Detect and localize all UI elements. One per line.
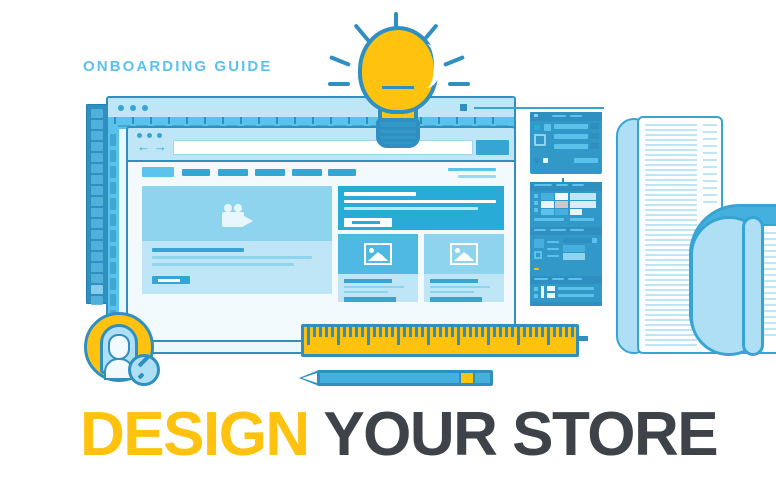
rail-tick-4 (110, 198, 116, 210)
ruler-tick-6 (222, 117, 224, 124)
properties-icon-b (534, 134, 546, 146)
kicker-label: ONBOARDING GUIDE (83, 58, 272, 75)
card-two-thumb (424, 234, 504, 274)
zoom-slider-knob[interactable] (460, 104, 467, 111)
window-dot-yellow (130, 105, 136, 111)
ruler-tick-1 (132, 117, 134, 124)
ruler-tick-11 (312, 117, 314, 124)
tool-2[interactable] (91, 131, 103, 140)
color-swatch-1[interactable] (541, 193, 554, 200)
ruler-tick-7 (240, 117, 242, 124)
color-swatch-7[interactable] (541, 209, 554, 215)
tool-7[interactable] (91, 186, 103, 195)
tool-3[interactable] (91, 142, 103, 151)
card-one-thumb (338, 234, 418, 274)
rail-tick-1 (110, 150, 116, 162)
tool-12[interactable] (91, 241, 103, 250)
browser-dot-red (137, 133, 142, 138)
nav-item-5[interactable] (328, 169, 356, 176)
video-thumbnail[interactable] (142, 186, 332, 241)
properties-icon-a (544, 124, 551, 131)
properties-button-1[interactable] (590, 123, 599, 129)
hero-line-2 (344, 200, 496, 203)
rail-tick-2 (110, 166, 116, 178)
nav-item-1[interactable] (182, 169, 210, 176)
address-go-button[interactable] (476, 140, 509, 155)
ruler-tick-21 (492, 117, 494, 124)
properties-button-2[interactable] (590, 133, 599, 139)
rail-tick-9 (110, 278, 116, 290)
website-preview-browser[interactable]: ← → (126, 126, 516, 342)
nav-right-line-1 (448, 168, 496, 171)
page-title: DESIGN YOUR STORE (80, 404, 717, 466)
hero-line-3 (344, 207, 478, 210)
tool-17[interactable] (91, 296, 103, 305)
properties-field-2[interactable] (554, 134, 588, 139)
ruler-tick-5 (204, 117, 206, 124)
color-swatch-3[interactable] (570, 193, 596, 200)
tool-9[interactable] (91, 208, 103, 217)
tool-14[interactable] (91, 263, 103, 272)
color-swatch-5[interactable] (555, 201, 568, 208)
forward-arrow-icon[interactable]: → (154, 142, 167, 152)
ruler-tick-20 (474, 117, 476, 124)
tool-1[interactable] (91, 120, 103, 129)
color-swatch-6[interactable] (570, 201, 596, 208)
ruler-end-nub (579, 336, 588, 341)
video-cta-button[interactable] (152, 276, 190, 284)
window-dot-red (118, 105, 124, 111)
ruler-tick-9 (276, 117, 278, 124)
styles-thumb[interactable] (534, 239, 544, 248)
pencil-edit-icon[interactable] (128, 354, 160, 386)
ruler-tick-19 (456, 117, 458, 124)
color-swatch-8[interactable] (555, 209, 568, 215)
hero-line-1 (344, 192, 416, 196)
hero-cta-button[interactable] (344, 218, 392, 227)
scroll-curl-right-roll (742, 216, 764, 356)
pencil-icon (299, 370, 493, 386)
ruler-tick-10 (294, 117, 296, 124)
video-caption-line-3 (152, 263, 294, 266)
nav-item-3[interactable] (255, 169, 285, 176)
properties-field-1[interactable] (554, 124, 588, 129)
illustration-stage: ONBOARDING GUIDE ← → (0, 0, 776, 484)
headline-rest: YOUR STORE (309, 400, 717, 469)
color-swatch-2[interactable] (555, 193, 568, 200)
hero-panel (338, 186, 504, 230)
card-two-caption (424, 274, 504, 302)
nav-item-2[interactable] (218, 169, 248, 176)
properties-field-3[interactable] (554, 144, 588, 149)
tool-10[interactable] (91, 219, 103, 228)
rail-tick-0 (110, 134, 116, 146)
tool-0[interactable] (91, 109, 103, 118)
nav-right-line-2 (458, 175, 496, 178)
rail-tick-10 (110, 294, 116, 306)
properties-panel-header (530, 112, 602, 121)
tool-6[interactable] (91, 175, 103, 184)
window-dot-green (142, 105, 148, 111)
site-nav-row[interactable] (128, 162, 514, 184)
color-swatch-4[interactable] (541, 201, 554, 208)
tool-15[interactable] (91, 274, 103, 283)
tool-palette[interactable] (86, 104, 108, 304)
rail-tick-6 (110, 230, 116, 242)
canvas-title-bar (108, 98, 514, 117)
color-swatch-9[interactable] (570, 209, 582, 215)
rail-tick-3 (110, 182, 116, 194)
styles-panel[interactable] (530, 182, 602, 306)
rail-tick-5 (110, 214, 116, 226)
properties-panel[interactable] (530, 112, 602, 174)
user-avatar[interactable] (84, 312, 154, 382)
properties-footer-field[interactable] (574, 158, 598, 163)
ruler-tick-2 (150, 117, 152, 124)
card-one-caption (338, 274, 418, 302)
nav-item-4[interactable] (292, 169, 322, 176)
avatar-face (108, 334, 130, 360)
tool-11[interactable] (91, 230, 103, 239)
image-placeholder-icon (364, 243, 392, 265)
image-placeholder-icon (450, 243, 478, 265)
headline-accent: DESIGN (80, 400, 309, 469)
ruler-tick-12 (330, 117, 332, 124)
tool-5[interactable] (91, 164, 103, 173)
nav-item-0[interactable] (142, 167, 174, 177)
video-caption-line-1 (152, 248, 244, 252)
properties-button-3[interactable] (590, 143, 599, 149)
zoom-slider-track[interactable] (474, 107, 604, 109)
lightbulb-base (376, 118, 420, 148)
back-arrow-icon[interactable]: ← (137, 142, 150, 152)
rail-tick-8 (110, 262, 116, 274)
tool-13[interactable] (91, 252, 103, 261)
video-caption-line-2 (152, 256, 312, 259)
rail-tick-7 (110, 246, 116, 258)
ruler-tick-3 (168, 117, 170, 124)
image-card-two[interactable] (424, 234, 504, 302)
ruler-icon (301, 324, 579, 357)
image-card-one[interactable] (338, 234, 418, 302)
tool-16[interactable] (91, 285, 103, 294)
browser-dot-green (157, 133, 162, 138)
tool-4[interactable] (91, 153, 103, 162)
lightbulb-icon (352, 26, 444, 156)
browser-toolbar: ← → (128, 128, 514, 162)
ruler-tick-4 (186, 117, 188, 124)
tool-8[interactable] (91, 197, 103, 206)
ruler-tick-8 (258, 117, 260, 124)
ruler-tick-13 (348, 117, 350, 124)
browser-dot-yellow (147, 133, 152, 138)
ruler-tick-0 (114, 117, 116, 124)
